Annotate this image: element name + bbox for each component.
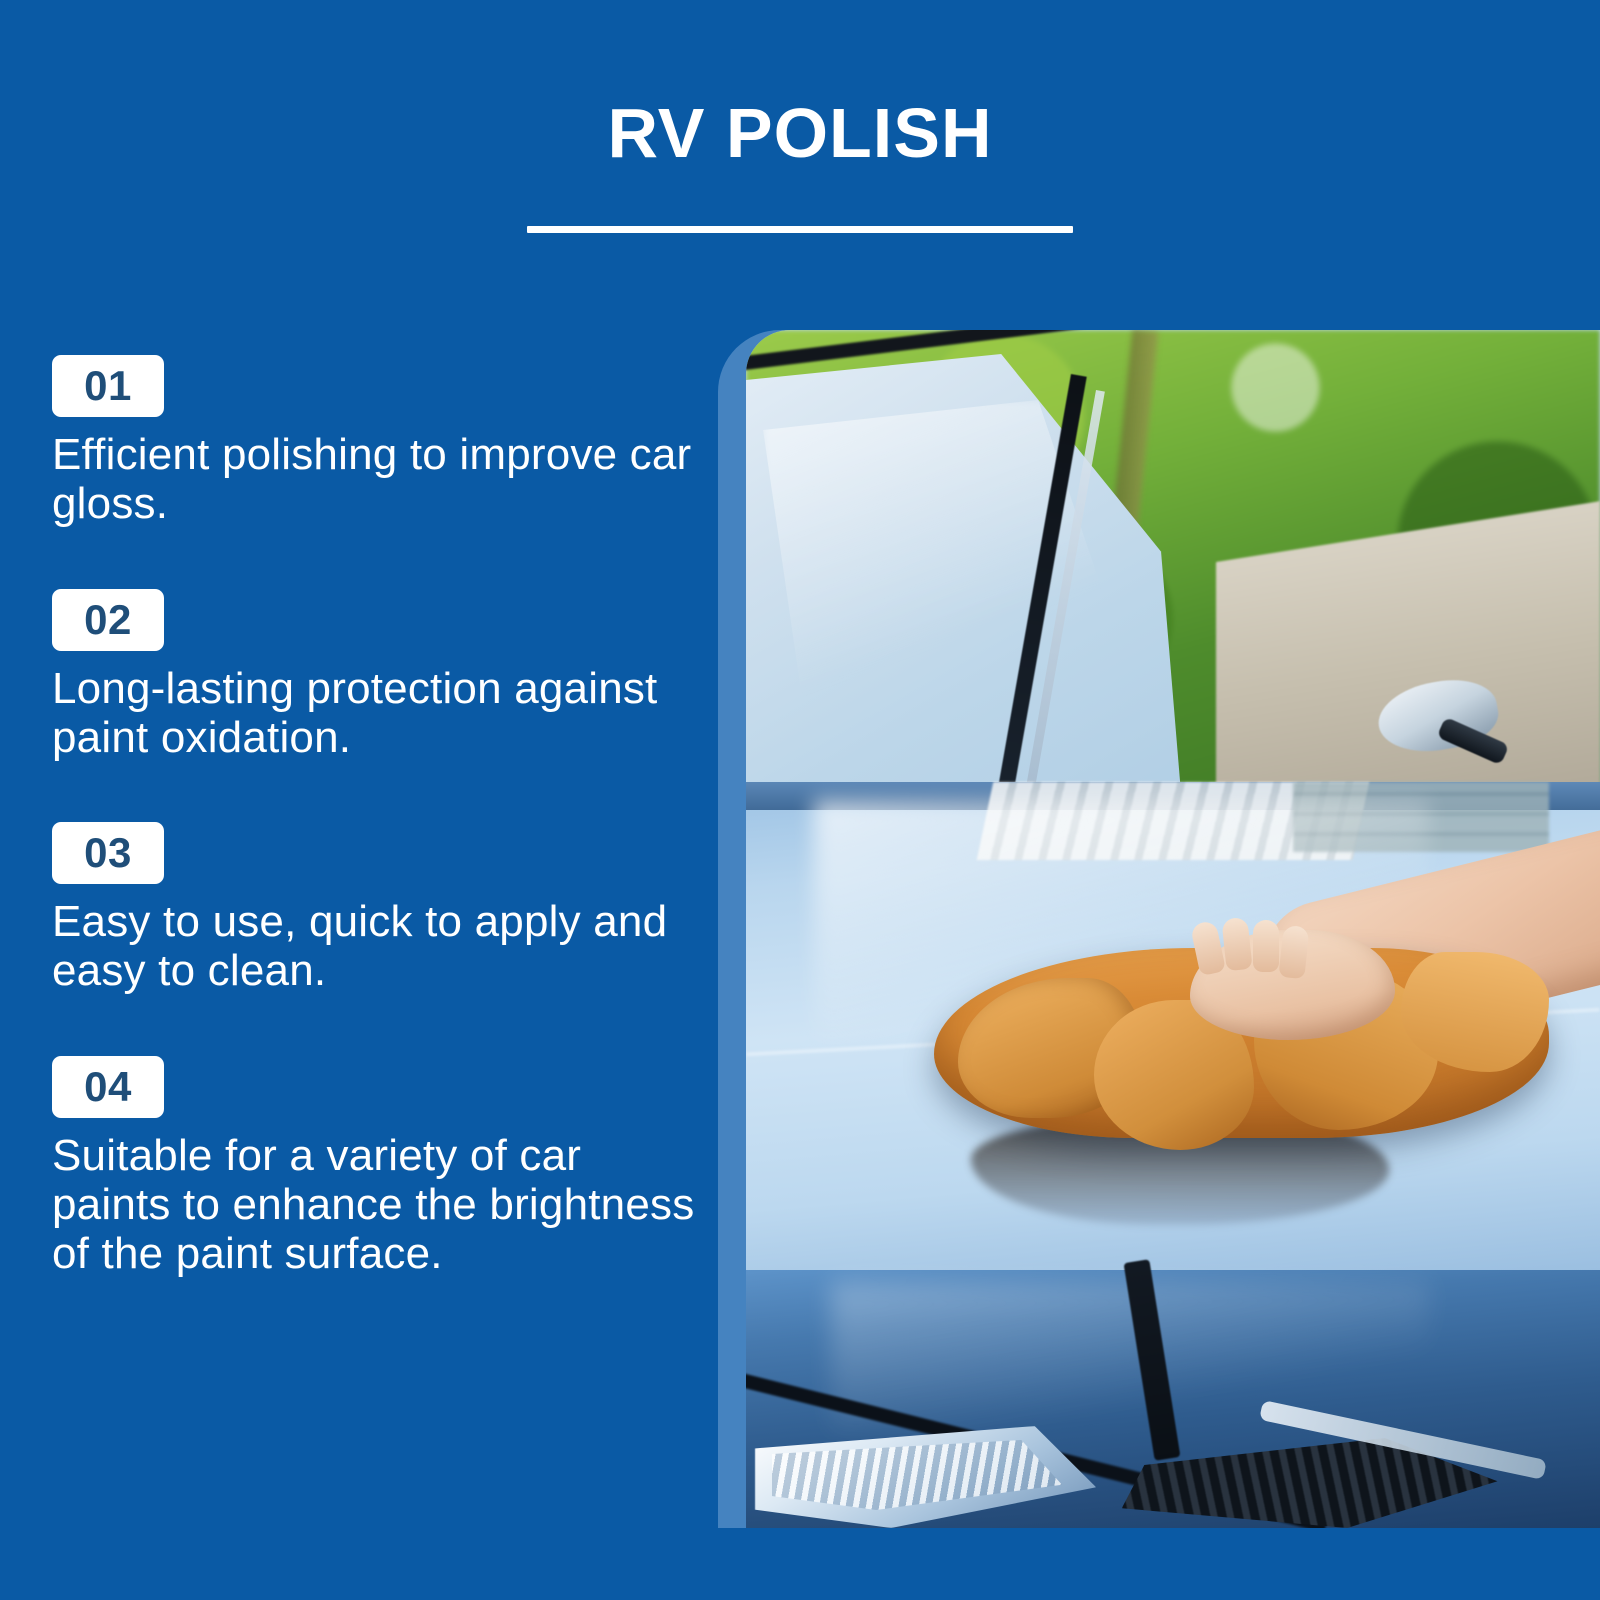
photo-finger (1278, 925, 1309, 979)
poster-header: RV POLISH (0, 0, 1600, 233)
feature-description: Efficient polishing to improve car gloss… (52, 430, 702, 529)
feature-description: Easy to use, quick to apply and easy to … (52, 897, 702, 996)
feature-description: Long-lasting protection against paint ox… (52, 664, 702, 763)
title-divider (527, 226, 1073, 233)
photo-frame (718, 330, 1600, 1528)
list-item: 01 Efficient polishing to improve car gl… (52, 355, 702, 529)
photo-finger (1253, 920, 1279, 972)
feature-description: Suitable for a variety of car paints to … (52, 1131, 702, 1279)
list-item: 04 Suitable for a variety of car paints … (52, 1056, 702, 1279)
feature-number-badge: 01 (52, 355, 164, 417)
list-item: 03 Easy to use, quick to apply and easy … (52, 822, 702, 996)
product-infographic-poster: RV POLISH 01 Efficient polishing to impr… (0, 0, 1600, 1600)
product-photo (746, 330, 1600, 1528)
feature-list: 01 Efficient polishing to improve car gl… (52, 355, 702, 1278)
feature-number-badge: 04 (52, 1056, 164, 1118)
list-item: 02 Long-lasting protection against paint… (52, 589, 702, 763)
page-title: RV POLISH (0, 98, 1600, 168)
feature-number-badge: 03 (52, 822, 164, 884)
feature-number-badge: 02 (52, 589, 164, 651)
